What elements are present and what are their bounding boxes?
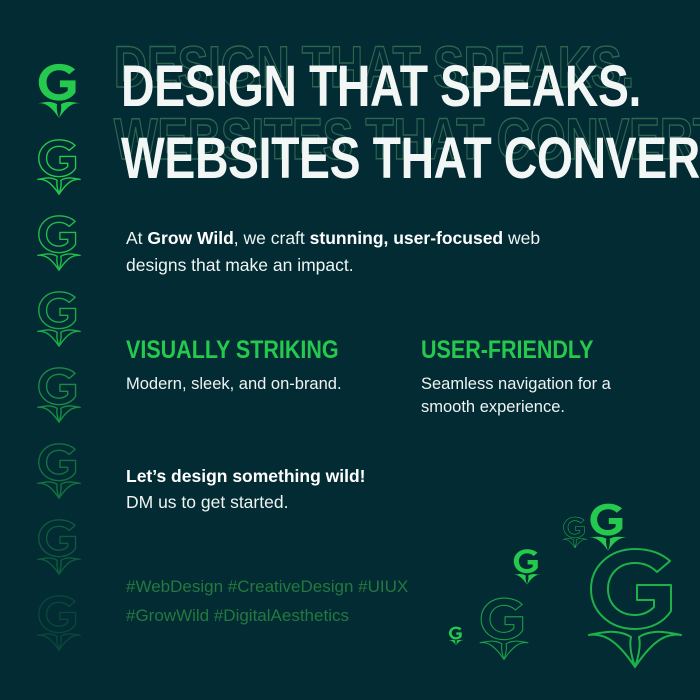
headline-line-1-text: DESIGN THAT SPEAKS. xyxy=(121,54,641,119)
feature-body: Seamless navigation for a smooth experie… xyxy=(421,373,661,419)
intro-paragraph: At Grow Wild, we craft stunning, user-fo… xyxy=(126,225,596,279)
headline-line-2-text: WEBSITES THAT CONVERT xyxy=(121,126,700,191)
hashtag-line-1: #WebDesign #CreativeDesign #UIUX xyxy=(126,572,408,601)
grow-wild-logo-icon xyxy=(512,548,542,586)
intro-brand-name: Grow Wild xyxy=(147,228,233,248)
social-post-canvas: DESIGN THAT SPEAKS. DESIGN THAT SPEAKS. … xyxy=(0,0,700,700)
grow-wild-logo-icon xyxy=(588,502,628,552)
feature-title: USER-FRIENDLY xyxy=(421,337,636,364)
cta-headline: Let’s design something wild! xyxy=(126,463,366,489)
feature-list: VISUALLY STRIKING Modern, sleek, and on-… xyxy=(126,337,671,419)
headline-line-2: WEBSITES THAT CONVERT WEBSITES THAT CONV… xyxy=(121,128,700,190)
grow-wild-logo-icon xyxy=(36,290,92,360)
grow-wild-logo-icon xyxy=(36,366,92,436)
intro-prefix: At xyxy=(126,228,147,248)
grow-wild-logo-icon xyxy=(585,545,685,671)
grow-wild-logo-icon xyxy=(36,62,92,132)
call-to-action: Let’s design something wild! DM us to ge… xyxy=(126,463,366,515)
intro-middle: , we craft xyxy=(234,228,310,248)
cta-subline: DM us to get started. xyxy=(126,489,366,515)
feature-body: Modern, sleek, and on-brand. xyxy=(126,373,366,396)
hashtag-block: #WebDesign #CreativeDesign #UIUX #GrowWi… xyxy=(126,572,408,630)
page-title: DESIGN THAT SPEAKS. DESIGN THAT SPEAKS. … xyxy=(121,56,700,190)
grow-wild-logo-icon xyxy=(478,596,530,662)
feature-item-user-friendly: USER-FRIENDLY Seamless navigation for a … xyxy=(421,337,671,419)
grow-wild-logo-icon xyxy=(36,138,92,208)
feature-title: VISUALLY STRIKING xyxy=(126,337,380,364)
grow-wild-logo-icon xyxy=(36,594,92,664)
grow-wild-logo-icon xyxy=(36,214,92,284)
headline-line-1: DESIGN THAT SPEAKS. DESIGN THAT SPEAKS. xyxy=(121,56,700,118)
grow-wild-logo-icon xyxy=(36,518,92,588)
grow-wild-logo-icon xyxy=(448,626,464,646)
feature-item-visually-striking: VISUALLY STRIKING Modern, sleek, and on-… xyxy=(126,337,421,419)
corner-logo-cluster xyxy=(540,510,700,700)
logo-strip xyxy=(33,62,95,664)
hashtag-line-2: #GrowWild #DigitalAesthetics xyxy=(126,601,408,630)
grow-wild-logo-icon xyxy=(36,442,92,512)
grow-wild-logo-icon xyxy=(562,516,588,549)
intro-emphasis: stunning, user-focused xyxy=(310,228,503,248)
